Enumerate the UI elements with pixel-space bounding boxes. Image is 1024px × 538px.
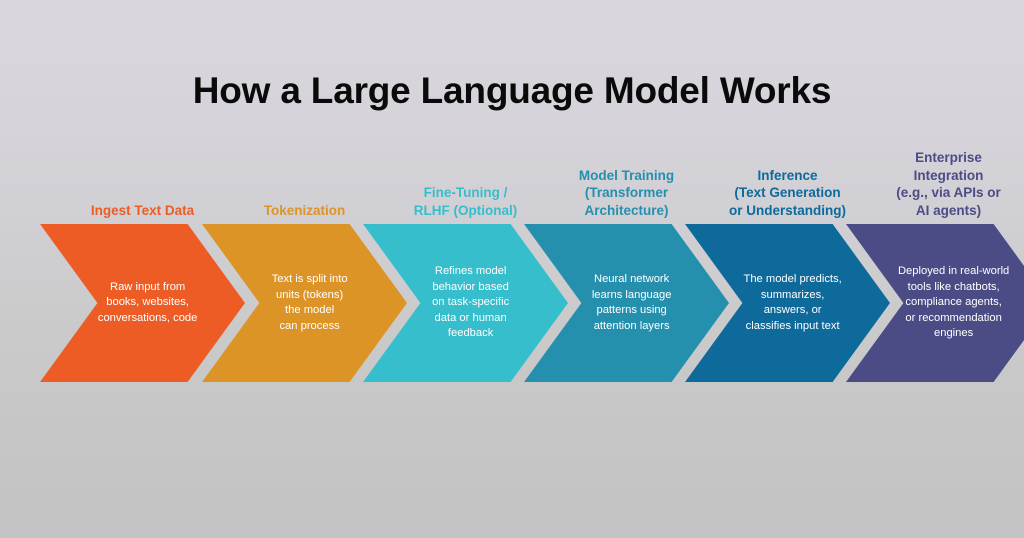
flow-step-1-body: Raw input from books, websites, conversa…: [98, 280, 198, 327]
flow-step-2-body: Text is split into units (tokens) the mo…: [272, 272, 348, 334]
flow-step-6-body: Deployed in real-world tools like chatbo…: [898, 264, 1009, 342]
flow-step-4-body: Neural network learns language patterns …: [592, 272, 672, 334]
flow-step-6-label: Enterprise Integration (e.g., via APIs o…: [846, 149, 1024, 219]
slide-canvas: How a Large Language Model Works Ingest …: [0, 0, 1024, 538]
flow-step-3-body: Refines model behavior based on task-spe…: [432, 264, 509, 342]
process-flow-diagram: Ingest Text Data Raw input from books, w…: [0, 0, 1024, 538]
flow-step-6[interactable]: Enterprise Integration (e.g., via APIs o…: [846, 0, 1024, 538]
flow-step-5-body: The model predicts, summarizes, answers,…: [744, 272, 842, 334]
flow-step-6-body-wrap: Deployed in real-world tools like chatbo…: [846, 224, 1024, 382]
flow-step-6-chevron: Deployed in real-world tools like chatbo…: [846, 224, 1024, 382]
